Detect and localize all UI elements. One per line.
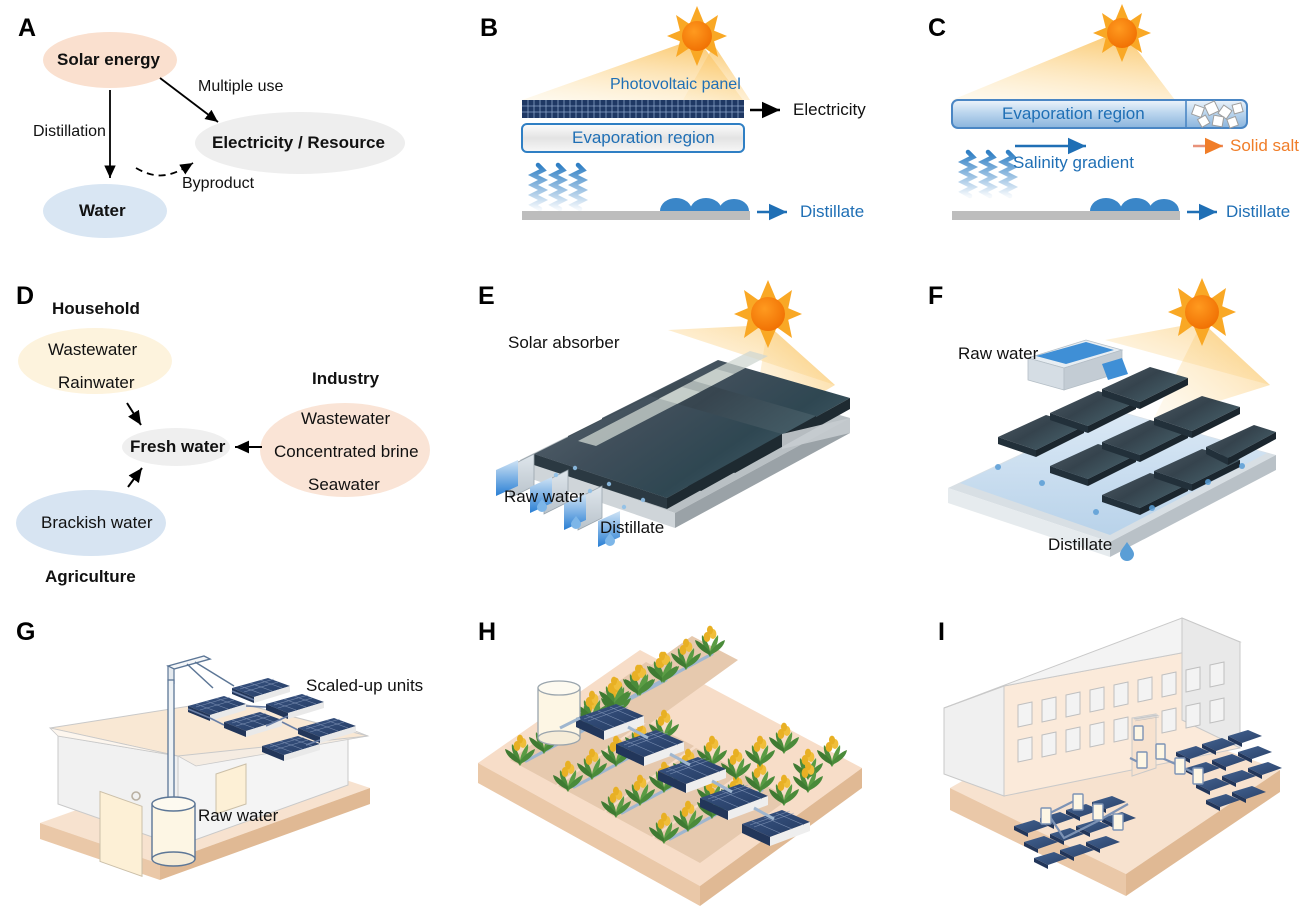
label-electricity: Electricity — [793, 100, 866, 120]
droplets-b — [660, 198, 749, 211]
label-solid-salt: Solid salt — [1230, 136, 1299, 156]
sun-icon-b — [667, 6, 727, 66]
label-distillate-c: Distillate — [1226, 202, 1290, 222]
water-tank-h — [538, 681, 580, 745]
droplets-c — [1090, 198, 1179, 211]
byproduct-arrow — [136, 163, 193, 175]
label-distillate-f: Distillate — [1048, 535, 1112, 555]
panel-c-diagram — [890, 0, 1316, 265]
label-solar-absorber: Solar absorber — [508, 333, 620, 353]
label-photovoltaic-panel: Photovoltaic panel — [610, 76, 741, 94]
panel-g-diagram — [0, 608, 450, 916]
sun-icon-f — [1168, 278, 1236, 346]
raw-water-inlet-f — [1028, 340, 1128, 390]
panel-b: B — [450, 0, 890, 265]
label-scaled-up-units: Scaled-up units — [306, 676, 423, 696]
panel-b-letter: B — [480, 16, 498, 41]
panel-e-diagram — [450, 270, 890, 595]
riser-pipe-g — [168, 680, 174, 805]
household-title: Household — [52, 299, 140, 319]
fresh-water-title: Fresh water — [130, 437, 225, 457]
edge-multiple-use: Multiple use — [198, 78, 283, 96]
collection-plate-c — [952, 211, 1180, 220]
panel-d-letter: D — [16, 284, 34, 309]
panel-e: E — [450, 270, 890, 595]
panel-c-letter: C — [928, 16, 946, 41]
panel-a: A Solar energy Electricity / Resource Wa… — [0, 0, 450, 265]
node-water: Water — [79, 201, 126, 221]
panel-h-diagram — [450, 608, 890, 916]
panel-i: I — [890, 608, 1316, 916]
label-evaporation-region-c: Evaporation region — [1002, 104, 1145, 124]
roof-unit-1 — [232, 678, 290, 703]
panel-c: C — [890, 0, 1316, 265]
panel-g: G — [0, 608, 450, 916]
label-evaporation-region-b: Evaporation region — [572, 128, 715, 148]
panel-i-diagram — [890, 608, 1316, 916]
panel-i-letter: I — [938, 620, 945, 645]
label-raw-water-e: Raw water — [504, 487, 584, 507]
household-item-1: Rainwater — [58, 373, 135, 393]
industry-item-2: Seawater — [308, 475, 380, 495]
panel-h-letter: H — [478, 620, 496, 645]
raw-water-tank-g — [152, 797, 195, 866]
building-side-wall-i — [944, 686, 1004, 796]
panel-f-letter: F — [928, 284, 943, 309]
industry-item-0: Wastewater — [301, 409, 390, 429]
label-raw-water-g: Raw water — [198, 806, 278, 826]
collection-plate-b — [522, 211, 750, 220]
panel-e-letter: E — [478, 284, 495, 309]
label-raw-water-f: Raw water — [958, 344, 1038, 364]
panel-h: H — [450, 608, 890, 916]
household-to-fresh-arrow — [127, 403, 141, 425]
panel-g-letter: G — [16, 620, 35, 645]
node-electricity-resource: Electricity / Resource — [212, 133, 385, 153]
panel-a-letter: A — [18, 16, 36, 41]
household-item-0: Wastewater — [48, 340, 137, 360]
agriculture-item-0: Brackish water — [41, 513, 152, 533]
sun-icon-e — [734, 280, 802, 348]
agriculture-title: Agriculture — [45, 567, 136, 587]
label-distillate-e: Distillate — [600, 518, 664, 538]
agriculture-to-fresh-arrow — [128, 468, 142, 487]
panel-f: F — [890, 270, 1316, 595]
industry-title: Industry — [312, 369, 379, 389]
node-solar-energy: Solar energy — [57, 50, 160, 70]
figure-root: A Solar energy Electricity / Resource Wa… — [0, 0, 1316, 916]
label-distillate-b: Distillate — [800, 202, 864, 222]
panel-d: D Household Wastewater Rainwater Industr… — [0, 270, 450, 595]
industry-item-1: Concentrated brine — [274, 442, 419, 462]
vapor-icon-b — [533, 165, 583, 209]
pv-panel-b — [522, 100, 744, 118]
house-door-g — [100, 791, 142, 876]
edge-byproduct: Byproduct — [182, 175, 254, 193]
label-salinity-gradient: Salinity gradient — [1013, 153, 1134, 173]
vapor-icon-c — [963, 152, 1013, 196]
edge-distillation: Distillation — [33, 123, 106, 141]
